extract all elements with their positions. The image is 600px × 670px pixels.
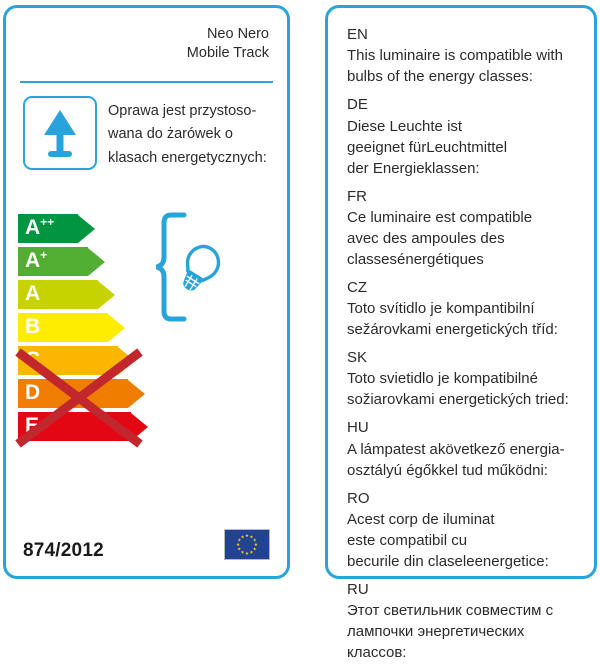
class-letter: A++ (25, 217, 54, 238)
language-block-sk: SKToto svietidlo je kompatibilnésožiarov… (347, 347, 584, 410)
energy-class-bar: C (18, 346, 148, 375)
light-bulb-icon (173, 241, 224, 297)
energy-class-bar: A (18, 280, 148, 309)
language-line: Diese Leuchte ist (347, 116, 584, 137)
language-line: Toto svítidlo je kompantibilní (347, 298, 584, 319)
language-line: sežárovkami energetických tříd: (347, 319, 584, 340)
language-line: este compatibil cu (347, 530, 584, 551)
energy-class-row-d: D (18, 379, 148, 408)
multilingual-text-list: ENThis luminaire is compatible withbulbs… (347, 24, 584, 670)
energy-class-row-aplusplus: A++ (18, 214, 148, 243)
language-block-cz: CZToto svítidlo je kompantibilnísežárovk… (347, 277, 584, 340)
table-lamp-icon (23, 96, 97, 170)
language-code: RO (347, 488, 584, 509)
class-letter: A (25, 283, 40, 304)
bar-arrow-tip (131, 413, 148, 441)
language-code: DE (347, 94, 584, 115)
language-code: SK (347, 347, 584, 368)
language-code: HU (347, 417, 584, 438)
curly-brace-icon (157, 215, 184, 319)
class-letter: E (25, 415, 39, 436)
bar-arrow-tip (108, 314, 125, 342)
brand-line-1: Neo Nero (187, 25, 269, 44)
bar-body: A+ (18, 247, 88, 276)
energy-class-row-aplus: A+ (18, 247, 148, 276)
brace-bulb-graphic (156, 211, 261, 329)
language-block-fr: FRCe luminaire est compatibleavec des am… (347, 186, 584, 270)
language-block-hu: HUA lámpatest akövetkező energia-osztály… (347, 417, 584, 480)
language-line: bulbs of the energy classes: (347, 66, 584, 87)
language-code: CZ (347, 277, 584, 298)
language-block-ro: ROAcest corp de iluminateste compatibil … (347, 488, 584, 572)
language-line: классов: (347, 642, 584, 663)
language-line: sožiarovkami energetických tried: (347, 389, 584, 410)
energy-class-row-e: E (18, 412, 148, 441)
energy-class-row-b: B (18, 313, 148, 342)
language-block-en: ENThis luminaire is compatible withbulbs… (347, 24, 584, 87)
brand-line-2: Mobile Track (187, 44, 269, 63)
class-letter: C (25, 349, 40, 370)
language-block-de: DEDiese Leuchte istgeeignet fürLeuchtmit… (347, 94, 584, 178)
bar-body: B (18, 313, 108, 342)
left-panel: Neo Nero Mobile Track Oprawa jest przyst… (3, 5, 290, 579)
energy-class-bar: A++ (18, 214, 148, 243)
language-line: classesénergétiques (347, 249, 584, 270)
language-line: лампочки энергетических (347, 621, 584, 642)
energy-class-row-c: C (18, 346, 148, 375)
energy-class-bar: D (18, 379, 148, 408)
language-line: This luminaire is compatible with (347, 45, 584, 66)
language-line: Ce luminaire est compatible (347, 207, 584, 228)
compat-line-3: klasach energetycznych: (108, 147, 288, 170)
bar-body: E (18, 412, 131, 441)
header-divider (20, 81, 273, 83)
bar-arrow-tip (118, 347, 135, 375)
regulation-number: 874/2012 (23, 540, 104, 562)
compatibility-text: Oprawa jest przystoso- wana do żarówek o… (108, 100, 288, 170)
language-code: RU (347, 579, 584, 600)
class-letter: D (25, 382, 40, 403)
language-line: geeignet fürLeuchtmittel (347, 137, 584, 158)
compat-line-2: wana do żarówek o (108, 123, 288, 146)
energy-class-row-a: A (18, 280, 148, 309)
bar-body: A++ (18, 214, 78, 243)
product-brand: Neo Nero Mobile Track (187, 25, 269, 63)
bar-arrow-tip (128, 380, 145, 408)
compat-line-1: Oprawa jest przystoso- (108, 100, 288, 123)
language-block-ru: RUЭтот светильник совместим слампочки эн… (347, 579, 584, 663)
bar-body: C (18, 346, 118, 375)
energy-label: Neo Nero Mobile Track Oprawa jest przyst… (0, 0, 600, 584)
bar-body: D (18, 379, 128, 408)
language-line: Этот светильник совместим с (347, 600, 584, 621)
energy-class-bar: E (18, 412, 148, 441)
right-panel: ENThis luminaire is compatible withbulbs… (325, 5, 597, 579)
eu-flag (224, 529, 270, 560)
bar-body: A (18, 280, 98, 309)
language-line: avec des ampoules des (347, 228, 584, 249)
bar-arrow-tip (88, 248, 105, 276)
language-code: EN (347, 24, 584, 45)
energy-class-scale: A++A+ABCDE (18, 214, 148, 445)
language-line: osztályú égőkkel tud működni: (347, 460, 584, 481)
language-line: der Energieklassen: (347, 158, 584, 179)
energy-class-bar: A+ (18, 247, 148, 276)
language-line: Acest corp de iluminat (347, 509, 584, 530)
bar-arrow-tip (98, 281, 115, 309)
language-line: becurile din claseleenergetice: (347, 551, 584, 572)
language-line: A lámpatest akövetkező energia- (347, 439, 584, 460)
class-letter: A+ (25, 250, 47, 271)
energy-class-bar: B (18, 313, 148, 342)
class-letter: B (25, 316, 40, 337)
language-code: FR (347, 186, 584, 207)
bar-arrow-tip (78, 215, 95, 243)
language-line: Toto svietidlo je kompatibilné (347, 368, 584, 389)
